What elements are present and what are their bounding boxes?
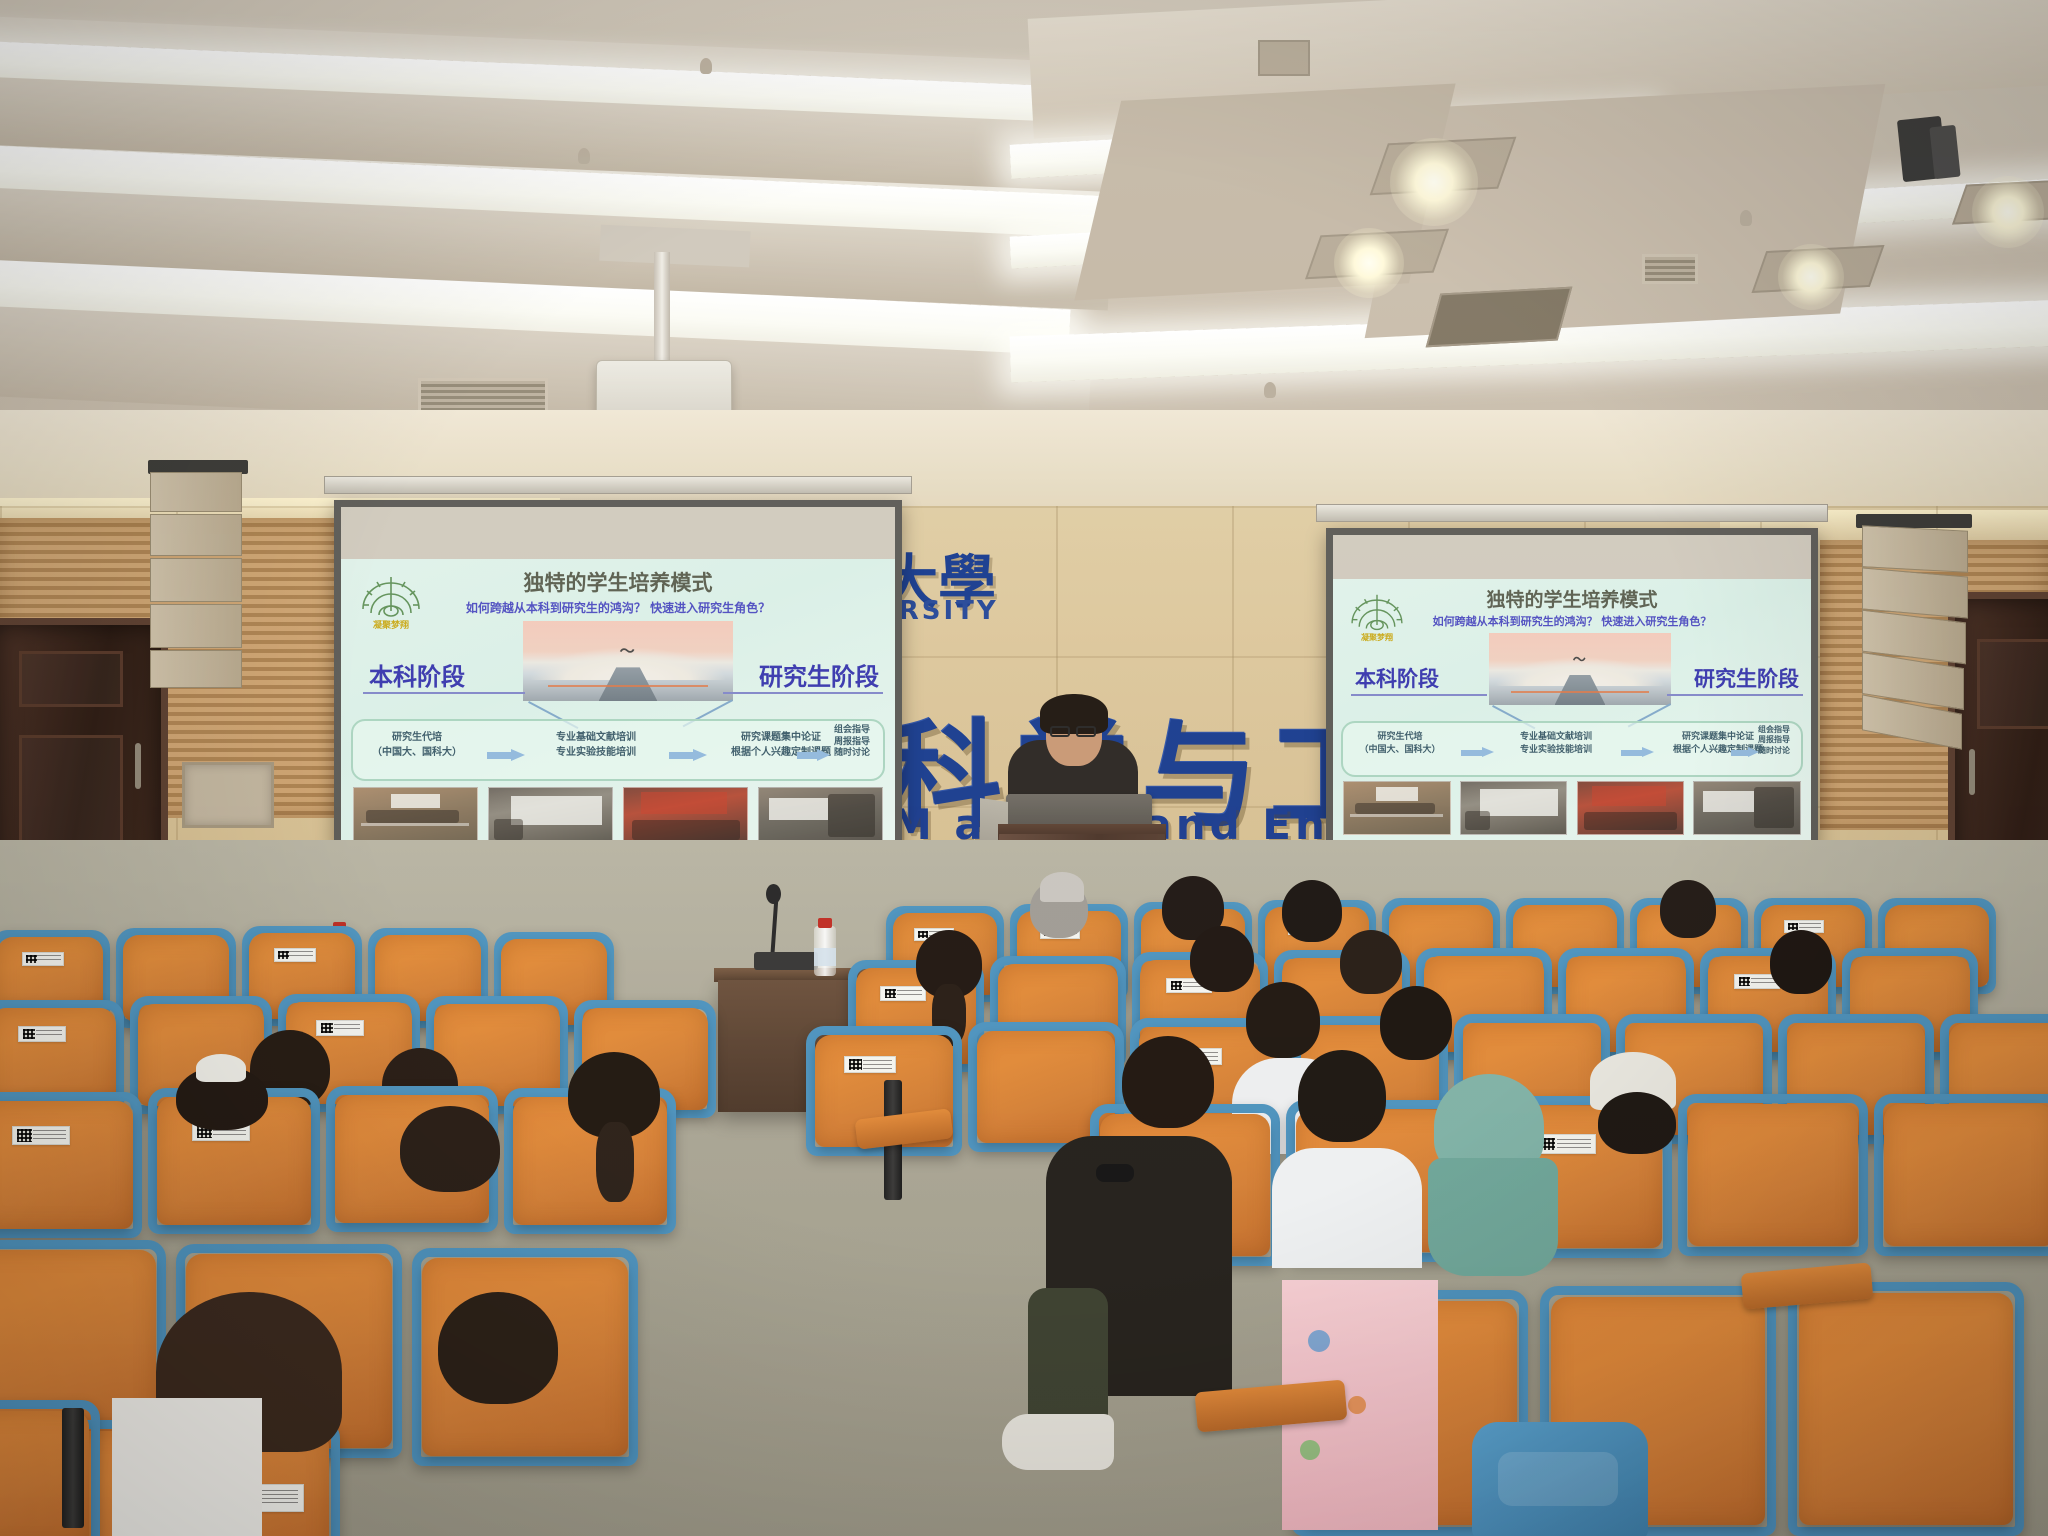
slide-subtitle-left: 如何跨越从本科到研究生的鸿沟？ 快速进入研究生角色？ — [341, 599, 895, 616]
flow-arrow-1 — [1461, 747, 1497, 758]
screen-roller-housing — [324, 476, 912, 494]
flow-line: （中国大、国科大） — [351, 746, 483, 761]
seat-qr-label — [18, 1026, 66, 1042]
seat-qr-label — [12, 1126, 70, 1145]
seat-qr-label — [880, 986, 926, 1001]
arrow-shaft — [487, 752, 513, 759]
audience-shoulders — [112, 1398, 262, 1536]
flow-cell-2: 专业基础文献培训 专业实验技能培训 — [525, 731, 667, 760]
screen-blank-area — [341, 507, 895, 559]
audience-shoulders — [1272, 1148, 1422, 1268]
flow-arrow-2 — [669, 749, 709, 761]
screen-blank-area — [1333, 535, 1811, 579]
slide-thumbnail — [758, 787, 883, 841]
audience-head — [1298, 1050, 1386, 1142]
slide-stage-left: 本科阶段 — [369, 657, 465, 692]
ceiling-downlight — [1972, 176, 2044, 248]
slide-thumbnail — [1693, 781, 1801, 835]
slide-stage-right: 研究生阶段 — [1694, 663, 1799, 693]
speaker-cabinet — [150, 514, 242, 556]
lecture-hall-scene: 大學 ERSITY 科学与工程 M at nce and En — [0, 0, 2048, 1536]
seat[interactable] — [1678, 1094, 1868, 1256]
microphone-base — [754, 952, 818, 970]
ceiling-speaker — [1929, 125, 1960, 179]
arrow-shaft — [669, 752, 695, 759]
speaker-cabinet — [1862, 525, 1968, 573]
slide-title-right: 独特的学生培养模式 — [1333, 585, 1811, 612]
backpack-pocket — [1498, 1452, 1618, 1506]
screen-roller-housing — [1316, 504, 1828, 522]
audience-head — [1770, 930, 1832, 994]
sprinkler-icon — [1264, 382, 1276, 398]
ceiling-access-hatch — [1426, 287, 1573, 348]
door-handle[interactable] — [1969, 749, 1975, 795]
flow-line: 专业实验技能培训 — [525, 746, 667, 761]
slide-stage-right: 研究生阶段 — [759, 657, 879, 692]
flow-line: 研究生代培 — [1341, 731, 1459, 744]
sneaker — [1002, 1414, 1114, 1470]
flow-cell-4: 组会指导 周报指导 随时讨论 — [813, 725, 891, 760]
stage-rule-left — [363, 692, 525, 694]
door-panel — [19, 735, 123, 855]
audience-hair — [1040, 872, 1084, 902]
bird-icon: 〜 — [620, 640, 635, 661]
wall-speaker-array-left — [150, 472, 246, 682]
slide-thumbnail — [1460, 781, 1568, 835]
ceiling — [0, 0, 2048, 470]
slide-thumbnail — [1343, 781, 1451, 835]
seat-qr-label — [274, 948, 316, 962]
flow-line: 周报指导 — [1739, 735, 1809, 745]
ceiling-downlight — [1390, 138, 1478, 226]
screen-surface-right: 凝聚梦翔 独特的学生培养模式 如何跨越从本科到研究生的鸿沟？ 快速进入研究生角色… — [1333, 535, 1811, 843]
flow-line: 专业基础文献培训 — [1493, 731, 1619, 744]
flow-line: 随时讨论 — [813, 748, 891, 760]
seat[interactable] — [0, 1400, 100, 1536]
projection-screen-right: 凝聚梦翔 独特的学生培养模式 如何跨越从本科到研究生的鸿沟？ 快速进入研究生角色… — [1326, 528, 1818, 850]
bottle-cap — [818, 918, 832, 928]
projector-mount-plate — [599, 225, 750, 268]
projector-pole — [654, 252, 670, 360]
slide-stage-left: 本科阶段 — [1355, 663, 1439, 693]
svg-text:凝聚梦翔: 凝聚梦翔 — [1361, 632, 1393, 642]
audience-head — [1598, 1092, 1676, 1154]
audience-head — [1282, 880, 1342, 942]
slide-mountain-graphic: 〜 — [523, 621, 733, 701]
seat-qr-label — [22, 952, 64, 966]
water-bottle — [814, 926, 836, 976]
wall-access-panel — [182, 762, 274, 828]
slide-thumbnail — [1577, 781, 1685, 835]
seat[interactable] — [1788, 1282, 2024, 1536]
audience-head — [1246, 982, 1320, 1058]
ceiling-downlight — [1334, 228, 1404, 298]
audience-hair-green — [1428, 1158, 1558, 1276]
ceiling-fixture — [1258, 40, 1310, 76]
bottle-label — [814, 948, 836, 966]
speaker-cabinet — [150, 604, 242, 648]
audience-head — [1122, 1036, 1214, 1128]
slide-thumbnail — [623, 787, 748, 841]
mountain-horizon-line — [1511, 691, 1649, 693]
flow-cell-1: 研究生代培 （中国大、国科大） — [1341, 731, 1459, 757]
line-array-speaker-right — [1862, 528, 1980, 740]
arrow-head — [511, 749, 525, 761]
wall-upper-band — [0, 410, 2048, 506]
audience-head — [1380, 986, 1452, 1060]
audience-ponytail — [596, 1122, 634, 1202]
room-door-left[interactable] — [0, 618, 168, 878]
hair-clip — [196, 1054, 246, 1082]
seat-qr-label — [316, 1020, 364, 1036]
bird-icon: 〜 — [1573, 649, 1586, 668]
flow-line: 专业基础文献培训 — [525, 731, 667, 746]
glasses-icon — [1050, 726, 1070, 737]
flow-cell-2: 专业基础文献培训 专业实验技能培训 — [1493, 731, 1619, 757]
seat-leg — [62, 1408, 84, 1528]
sprinkler-icon — [578, 148, 590, 164]
flow-line: 周报指导 — [813, 737, 891, 749]
audience-head — [1190, 926, 1254, 992]
slide-thumbnail — [488, 787, 613, 841]
glasses-icon — [1076, 726, 1096, 737]
door-handle[interactable] — [135, 743, 141, 789]
slide-title-left: 独特的学生培养模式 — [341, 567, 895, 597]
stage-rule-right — [723, 692, 883, 694]
gooseneck-microphone-head — [766, 884, 781, 904]
shirt-pattern — [1308, 1330, 1330, 1352]
slide-thumbnail-strip — [1343, 781, 1801, 835]
flow-line: 专业实验技能培训 — [1493, 744, 1619, 757]
audience-head — [400, 1106, 500, 1192]
slide-right: 凝聚梦翔 独特的学生培养模式 如何跨越从本科到研究生的鸿沟？ 快速进入研究生角色… — [1333, 579, 1811, 843]
flow-arrow-1 — [487, 749, 527, 761]
stage-rule-left — [1351, 694, 1487, 696]
projection-screen-left: 凝聚梦翔 独特的学生培养模式 如何跨越从本科到研究生的鸿沟？ 快速进入研究生角色… — [334, 500, 902, 848]
speaker-cabinet — [150, 472, 242, 512]
door-panel — [1977, 639, 2048, 729]
mountain-horizon-line — [548, 685, 708, 687]
shirt-pattern — [1348, 1396, 1366, 1414]
audience-head — [1340, 930, 1402, 994]
sprinkler-icon — [700, 58, 712, 74]
slide-subtitle-right: 如何跨越从本科到研究生的鸿沟？ 快速进入研究生角色？ — [1333, 613, 1811, 629]
flow-line: 研究生代培 — [351, 731, 483, 746]
wristwatch — [1096, 1164, 1134, 1182]
flow-line: 随时讨论 — [1739, 746, 1809, 756]
flow-line: 组会指导 — [1739, 725, 1809, 735]
flow-cell-4: 组会指导 周报指导 随时讨论 — [1739, 725, 1809, 756]
slide-thumbnail-strip — [353, 787, 883, 841]
stage-rule-right — [1667, 694, 1803, 696]
ceiling-downlight — [1778, 244, 1844, 310]
sprinkler-icon — [1740, 210, 1752, 226]
door-panel — [19, 651, 123, 707]
audience-head — [438, 1292, 558, 1404]
speaker-cabinet — [150, 558, 242, 602]
slide-left: 凝聚梦翔 独特的学生培养模式 如何跨越从本科到研究生的鸿沟？ 快速进入研究生角色… — [341, 559, 895, 841]
slide-thumbnail — [353, 787, 478, 841]
seat[interactable] — [0, 1092, 142, 1238]
screen-surface-left: 凝聚梦翔 独特的学生培养模式 如何跨越从本科到研究生的鸿沟？ 快速进入研究生角色… — [341, 507, 895, 841]
slide-mountain-graphic: 〜 — [1489, 633, 1671, 705]
air-vent — [1642, 254, 1698, 284]
flow-cell-1: 研究生代培 （中国大、国科大） — [351, 731, 483, 760]
speaker-cabinet — [150, 650, 242, 688]
shirt-pattern — [1300, 1440, 1320, 1460]
audience-head — [1660, 880, 1716, 938]
seat-qr-label — [844, 1056, 896, 1073]
flow-line: 组会指导 — [813, 725, 891, 737]
flow-line: （中国大、国科大） — [1341, 744, 1459, 757]
logo-text: 凝聚梦翔 — [373, 619, 409, 631]
seat[interactable] — [1874, 1094, 2048, 1256]
